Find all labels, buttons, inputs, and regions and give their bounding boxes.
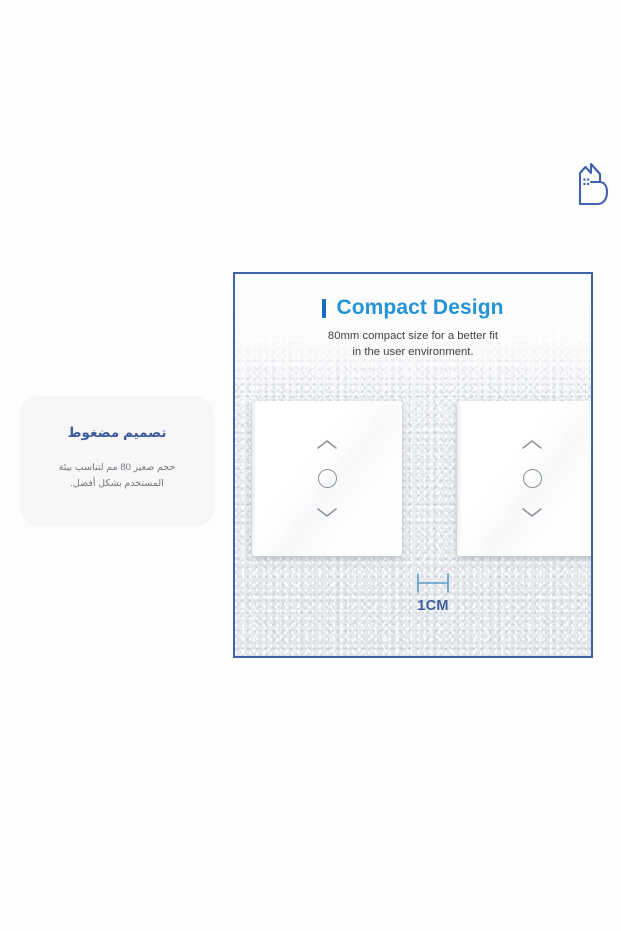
dimension-callout: 1CM xyxy=(409,572,457,614)
chevron-up-icon[interactable] xyxy=(521,439,543,450)
stop-circle-icon[interactable] xyxy=(523,469,542,488)
arabic-card-title: تصميم مضغوط xyxy=(67,425,166,441)
stop-circle-icon[interactable] xyxy=(318,469,337,488)
arabic-card-body: حجم صغير 80 مم لتناسب بيئة المستخدم بشكل… xyxy=(41,460,193,491)
building-monogram-icon xyxy=(575,160,609,208)
panel-subtitle: 80mm compact size for a better fit in th… xyxy=(235,328,591,360)
compact-design-feature-panel: Compact Design 80mm compact size for a b… xyxy=(233,272,593,658)
brand-logo xyxy=(575,160,609,208)
panel-heading-text: Compact Design xyxy=(336,296,503,320)
chevron-up-icon[interactable] xyxy=(316,439,338,450)
panel-subtitle-line-1: 80mm compact size for a better fit xyxy=(235,328,591,344)
dimension-label: 1CM xyxy=(417,598,449,614)
panel-heading: Compact Design xyxy=(235,296,591,320)
right-switch-plate xyxy=(457,401,593,556)
arabic-feature-card: تصميم مضغوط حجم صغير 80 مم لتناسب بيئة ا… xyxy=(20,396,214,526)
dimension-bracket-icon xyxy=(415,572,451,594)
right-switch-controls xyxy=(457,401,593,556)
chevron-down-icon[interactable] xyxy=(521,507,543,518)
left-switch-plate xyxy=(252,401,402,556)
chevron-down-icon[interactable] xyxy=(316,507,338,518)
panel-subtitle-line-2: in the user environment. xyxy=(235,344,591,360)
left-switch-controls xyxy=(252,401,402,556)
heading-accent-bar xyxy=(322,299,326,318)
